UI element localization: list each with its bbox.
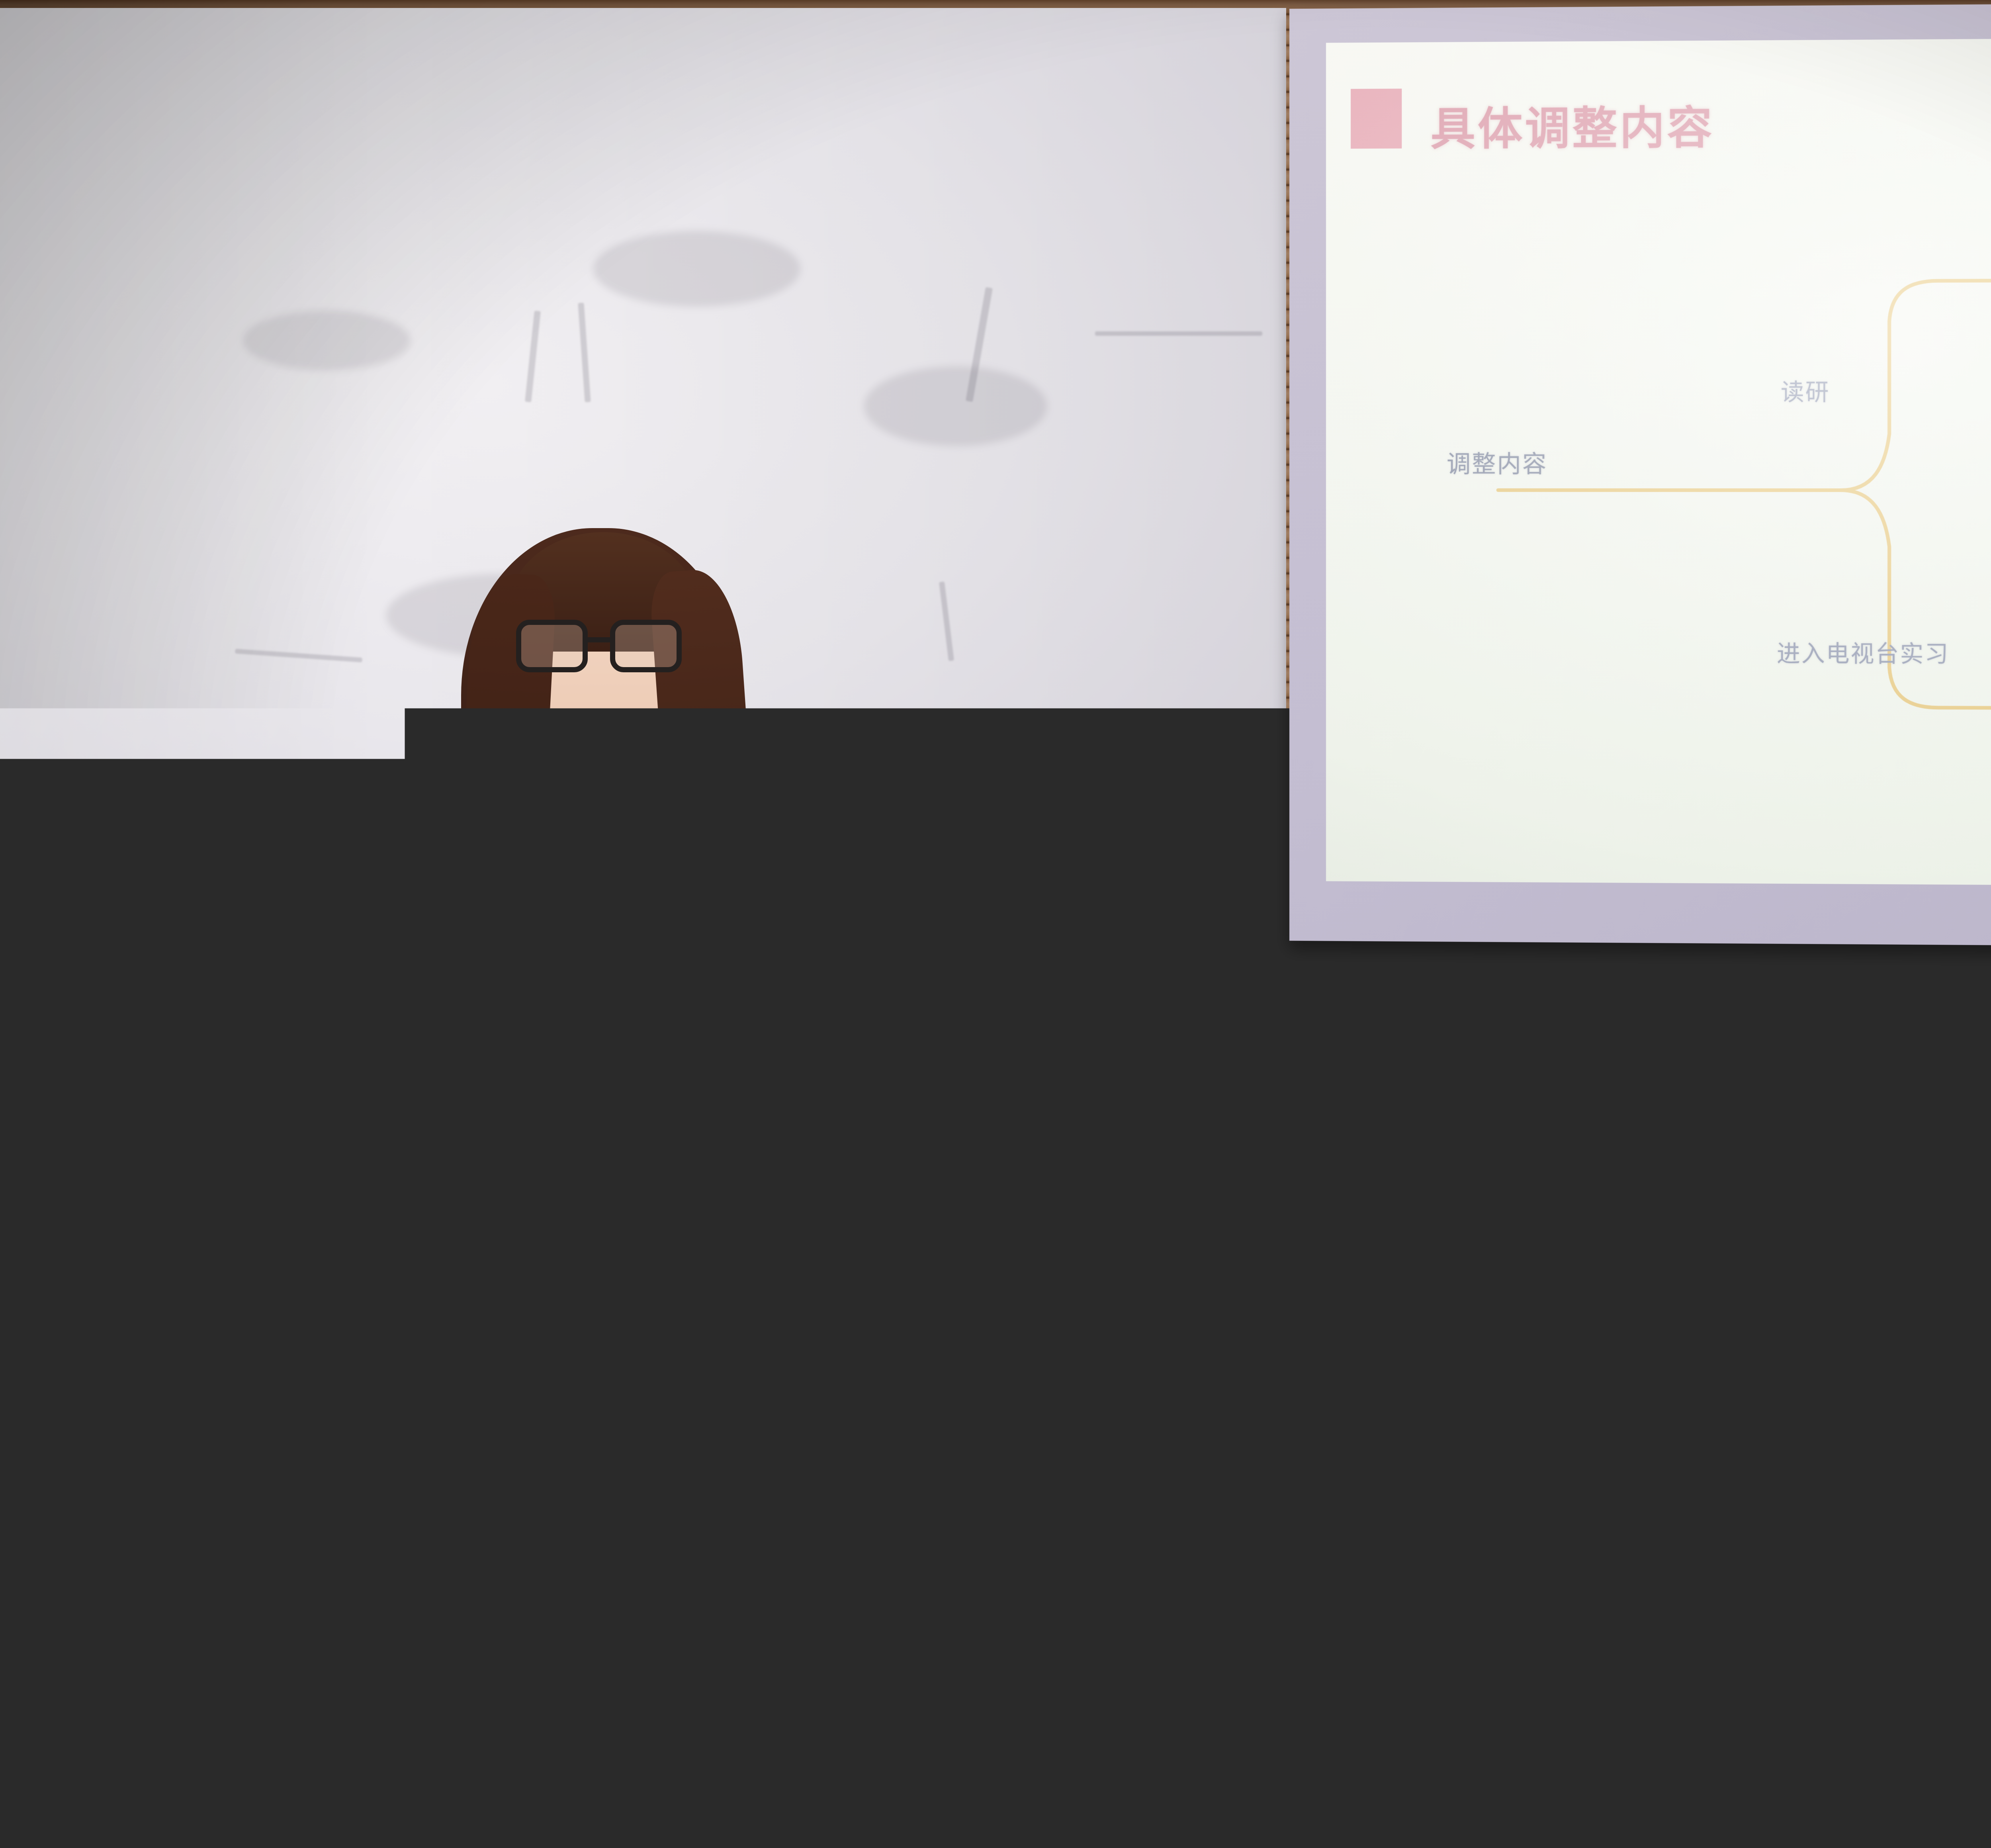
student-hair	[1457, 1123, 1987, 1653]
presenter-badge	[593, 971, 611, 999]
whiteboard-stroke	[525, 311, 541, 402]
whiteboard-stroke	[1095, 331, 1262, 336]
presenter-glasses	[516, 620, 687, 672]
projection-screen: 具体调整内容 调整内容	[1289, 0, 1991, 950]
student-hoodie	[1314, 1613, 1991, 1848]
mindmap-node-dúyán: 读研	[1781, 373, 1830, 407]
audience-student-long-hair	[16, 1227, 784, 1848]
presenter-wristwatch	[647, 1082, 684, 1098]
glasses-lens-left	[516, 620, 588, 672]
presenter-belt	[546, 1187, 593, 1199]
whiteboard-stroke	[578, 303, 591, 402]
hoodie-drawstring-left	[1513, 1641, 1524, 1685]
mindmap-node-root: 调整内容	[1447, 444, 1547, 479]
whiteboard-smudge	[864, 366, 1047, 446]
presenter-clicker	[581, 1047, 602, 1073]
glasses-lens-right	[610, 620, 682, 672]
whiteboard-stroke	[966, 287, 993, 402]
whiteboard-stroke	[235, 649, 362, 662]
mindmap-nodes: 调整内容 读研 进入电视台实习 读博 小县城地方台 一线电视台 大学教师（进行学…	[1326, 34, 1991, 889]
presenter-lips	[577, 711, 624, 732]
audience-student-blue-hoodie	[1338, 1123, 1991, 1848]
student-shoulders	[0, 1705, 844, 1848]
whiteboard-stroke	[939, 581, 954, 661]
presentation-slide: 具体调整内容 调整内容	[1326, 34, 1991, 889]
lecture-room-scene: 具体调整内容 调整内容	[0, 0, 1991, 1848]
whiteboard-smudge	[593, 231, 800, 307]
mindmap-node-tv-internship: 进入电视台实习	[1777, 635, 1949, 669]
glasses-bridge	[587, 637, 612, 642]
whiteboard-smudge	[243, 311, 410, 370]
